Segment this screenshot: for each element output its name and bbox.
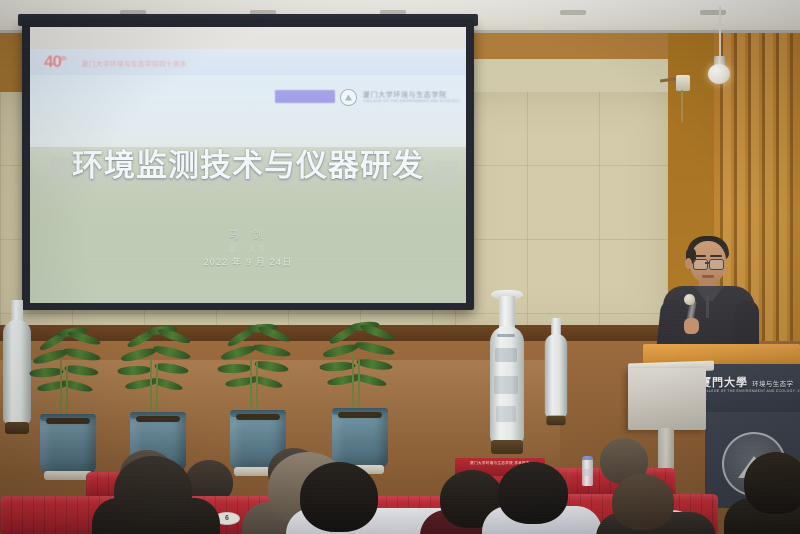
- lecture-hall-scene: 40th 厦门大学环境与生态学院四十周年 厦门大学环境与生态学院 COLLEGE…: [0, 0, 800, 534]
- slide-title: 环境监测技术与仪器研发: [30, 140, 466, 185]
- glasses-bridge: [705, 262, 710, 264]
- ceiling-vent: [700, 10, 726, 15]
- lectern: [628, 368, 706, 430]
- porcelain-vase-right: [544, 318, 568, 430]
- podium-plate-zh: 厦門大學: [700, 377, 748, 389]
- audience-head: [498, 462, 568, 524]
- audience-head: [744, 452, 800, 514]
- speaker-brow: [710, 255, 722, 257]
- wall-sconce-icon: [676, 75, 690, 91]
- audience-head: [300, 462, 378, 532]
- projection-screen: 40th 厦门大学环境与生态学院四十周年 厦门大学环境与生态学院 COLLEGE…: [30, 27, 466, 303]
- water-bottle[interactable]: [582, 456, 593, 486]
- audience-head: [114, 456, 192, 526]
- porcelain-vase-tall-center: [487, 290, 527, 454]
- pendant-lamp-bulb-icon: [708, 64, 730, 84]
- speaker-ear: [685, 258, 692, 269]
- pendant-lamp-cord: [719, 6, 721, 58]
- glasses-icon: [709, 259, 724, 270]
- audience-head: [612, 474, 674, 530]
- speaker-brow: [694, 255, 706, 257]
- slide-presenter-name: 马 剑: [30, 227, 466, 242]
- porcelain-vase-left: [2, 300, 32, 440]
- podium-nameplate: 厦門大學 环境与生态学院 COLLEGE OF THE ENVIRONMENT …: [700, 372, 800, 402]
- ceiling-vent: [560, 10, 586, 15]
- glasses-icon: [693, 259, 708, 270]
- podium-plate-en: COLLEGE OF THE ENVIRONMENT AND ECOLOGY, …: [701, 389, 800, 393]
- microphone-head-icon: [684, 294, 695, 305]
- wall-sconce-pole: [681, 90, 683, 122]
- speaker-polo-placket: [706, 296, 709, 318]
- speaker-mouth: [702, 275, 714, 278]
- speaker-right-hand: [684, 318, 699, 334]
- slide-organization: 厦门大学: [30, 243, 466, 254]
- slide-date: 2022 年 9 月 24日: [30, 255, 466, 268]
